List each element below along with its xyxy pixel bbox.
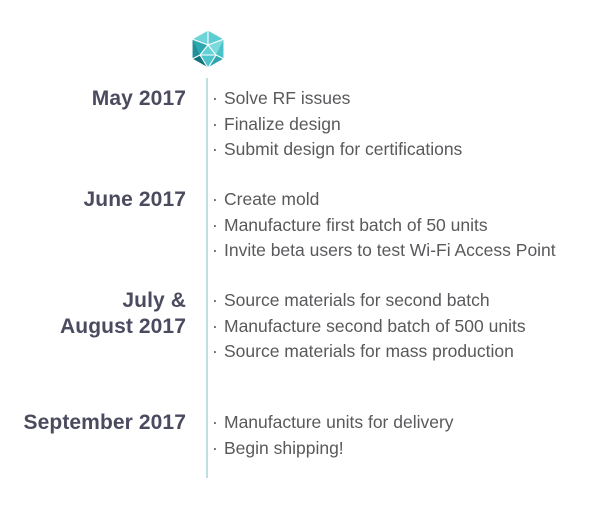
list-item-label: Submit design for certifications — [224, 137, 462, 163]
list-item-label: Manufacture second batch of 500 units — [224, 314, 526, 340]
milestone-row-may: May 2017 · Solve RF issues · Finalize de… — [0, 86, 600, 163]
list-item-label: Begin shipping! — [224, 436, 344, 462]
milestone-date-september: September 2017 — [0, 410, 196, 436]
list-item-label: Create mold — [224, 187, 319, 213]
list-item: · Create mold — [212, 187, 600, 213]
list-item-label: Manufacture units for delivery — [224, 410, 454, 436]
milestone-row-june: June 2017 · Create mold · Manufacture fi… — [0, 187, 600, 264]
bullet-dot-icon: · — [212, 86, 224, 112]
list-item: · Finalize design — [212, 112, 600, 138]
milestone-row-july-august: July & August 2017 · Source materials fo… — [0, 288, 600, 365]
list-item-label: Source materials for mass production — [224, 339, 514, 365]
list-item: · Solve RF issues — [212, 86, 600, 112]
bullet-dot-icon: · — [212, 187, 224, 213]
list-item: · Manufacture first batch of 50 units — [212, 213, 600, 239]
milestone-items-may: · Solve RF issues · Finalize design · Su… — [196, 86, 600, 163]
milestone-date-may: May 2017 — [0, 86, 196, 112]
bullet-dot-icon: · — [212, 137, 224, 163]
list-item: · Begin shipping! — [212, 436, 600, 462]
icosahedron-gem-logo — [190, 29, 226, 69]
bullet-dot-icon: · — [212, 112, 224, 138]
list-item-label: Source materials for second batch — [224, 288, 490, 314]
milestone-date-june: June 2017 — [0, 187, 196, 213]
list-item-label: Manufacture first batch of 50 units — [224, 213, 488, 239]
list-item: · Source materials for second batch — [212, 288, 600, 314]
milestone-row-september: September 2017 · Manufacture units for d… — [0, 410, 600, 461]
list-item-label: Invite beta users to test Wi-Fi Access P… — [224, 238, 556, 264]
list-item: · Manufacture second batch of 500 units — [212, 314, 600, 340]
bullet-dot-icon: · — [212, 339, 224, 365]
list-item: · Manufacture units for delivery — [212, 410, 600, 436]
list-item: · Submit design for certifications — [212, 137, 600, 163]
timeline-roadmap: May 2017 · Solve RF issues · Finalize de… — [0, 0, 600, 509]
bullet-dot-icon: · — [212, 314, 224, 340]
bullet-dot-icon: · — [212, 410, 224, 436]
bullet-dot-icon: · — [212, 288, 224, 314]
milestone-items-june: · Create mold · Manufacture first batch … — [196, 187, 600, 264]
milestone-items-july-august: · Source materials for second batch · Ma… — [196, 288, 600, 365]
list-item-label: Solve RF issues — [224, 86, 350, 112]
list-item: · Source materials for mass production — [212, 339, 600, 365]
bullet-dot-icon: · — [212, 213, 224, 239]
milestone-items-september: · Manufacture units for delivery · Begin… — [196, 410, 600, 461]
bullet-dot-icon: · — [212, 436, 224, 462]
list-item: · Invite beta users to test Wi-Fi Access… — [212, 238, 600, 264]
milestone-date-july-august: July & August 2017 — [0, 288, 196, 340]
bullet-dot-icon: · — [212, 238, 224, 264]
list-item-label: Finalize design — [224, 112, 341, 138]
